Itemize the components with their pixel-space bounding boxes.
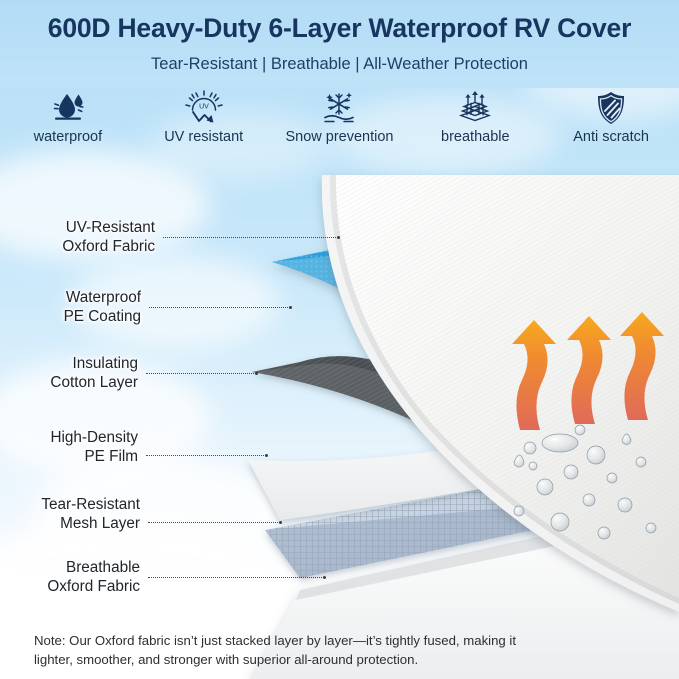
layer-label-line2: Cotton Layer bbox=[50, 374, 138, 391]
layer-label-line2: PE Film bbox=[84, 448, 138, 465]
layer-label-line2: Mesh Layer bbox=[60, 515, 140, 532]
heat-escape-arrows bbox=[512, 312, 664, 430]
breathable-mesh-icon bbox=[455, 90, 495, 126]
water-drop-icon bbox=[50, 90, 86, 126]
feature-label: breathable bbox=[441, 129, 510, 145]
layer-label-line1: UV-Resistant bbox=[66, 219, 155, 236]
layer-label-line2: PE Coating bbox=[64, 308, 141, 325]
layer-label-line1: High-Density bbox=[50, 429, 138, 446]
feature-label: Snow prevention bbox=[285, 129, 393, 145]
feature-icon-row: waterproof UV UV resistant bbox=[0, 90, 679, 152]
layer-label-line2: Oxford Fabric bbox=[62, 238, 155, 255]
page-title: 600D Heavy-Duty 6-Layer Waterproof RV Co… bbox=[0, 13, 679, 44]
uv-sun-icon: UV bbox=[184, 90, 224, 126]
layer-label-line1: Breathable bbox=[66, 559, 140, 576]
feature-uv-resistant: UV UV resistant bbox=[136, 90, 272, 145]
footer-note: Note: Our Oxford fabric isn’t just stack… bbox=[34, 632, 554, 669]
layer-label-line1: Waterproof bbox=[66, 289, 141, 306]
feature-anti-scratch: Anti scratch bbox=[543, 90, 679, 145]
leader-line bbox=[163, 237, 338, 238]
leader-line bbox=[149, 307, 290, 308]
feature-snow-prevention: Snow prevention bbox=[272, 90, 408, 145]
snowflake-icon bbox=[319, 90, 359, 126]
leader-line bbox=[148, 522, 280, 523]
leader-line bbox=[146, 373, 256, 374]
feature-label: UV resistant bbox=[164, 129, 243, 145]
layer-label-line2: Oxford Fabric bbox=[47, 578, 140, 595]
feature-label: Anti scratch bbox=[573, 129, 649, 145]
product-infographic: 600D Heavy-Duty 6-Layer Waterproof RV Co… bbox=[0, 0, 679, 679]
shield-icon bbox=[593, 90, 629, 126]
uv-icon-text: UV bbox=[199, 104, 209, 111]
leader-line bbox=[146, 455, 266, 456]
leader-line bbox=[148, 577, 324, 578]
layer-label-line1: Insulating bbox=[73, 355, 138, 372]
page-subtitle: Tear-Resistant | Breathable | All-Weathe… bbox=[0, 55, 679, 74]
feature-label: waterproof bbox=[34, 129, 103, 145]
layer-label-line1: Tear-Resistant bbox=[41, 496, 140, 513]
header-banner: 600D Heavy-Duty 6-Layer Waterproof RV Co… bbox=[0, 0, 679, 88]
feature-waterproof: waterproof bbox=[0, 90, 136, 145]
feature-breathable: breathable bbox=[407, 90, 543, 145]
